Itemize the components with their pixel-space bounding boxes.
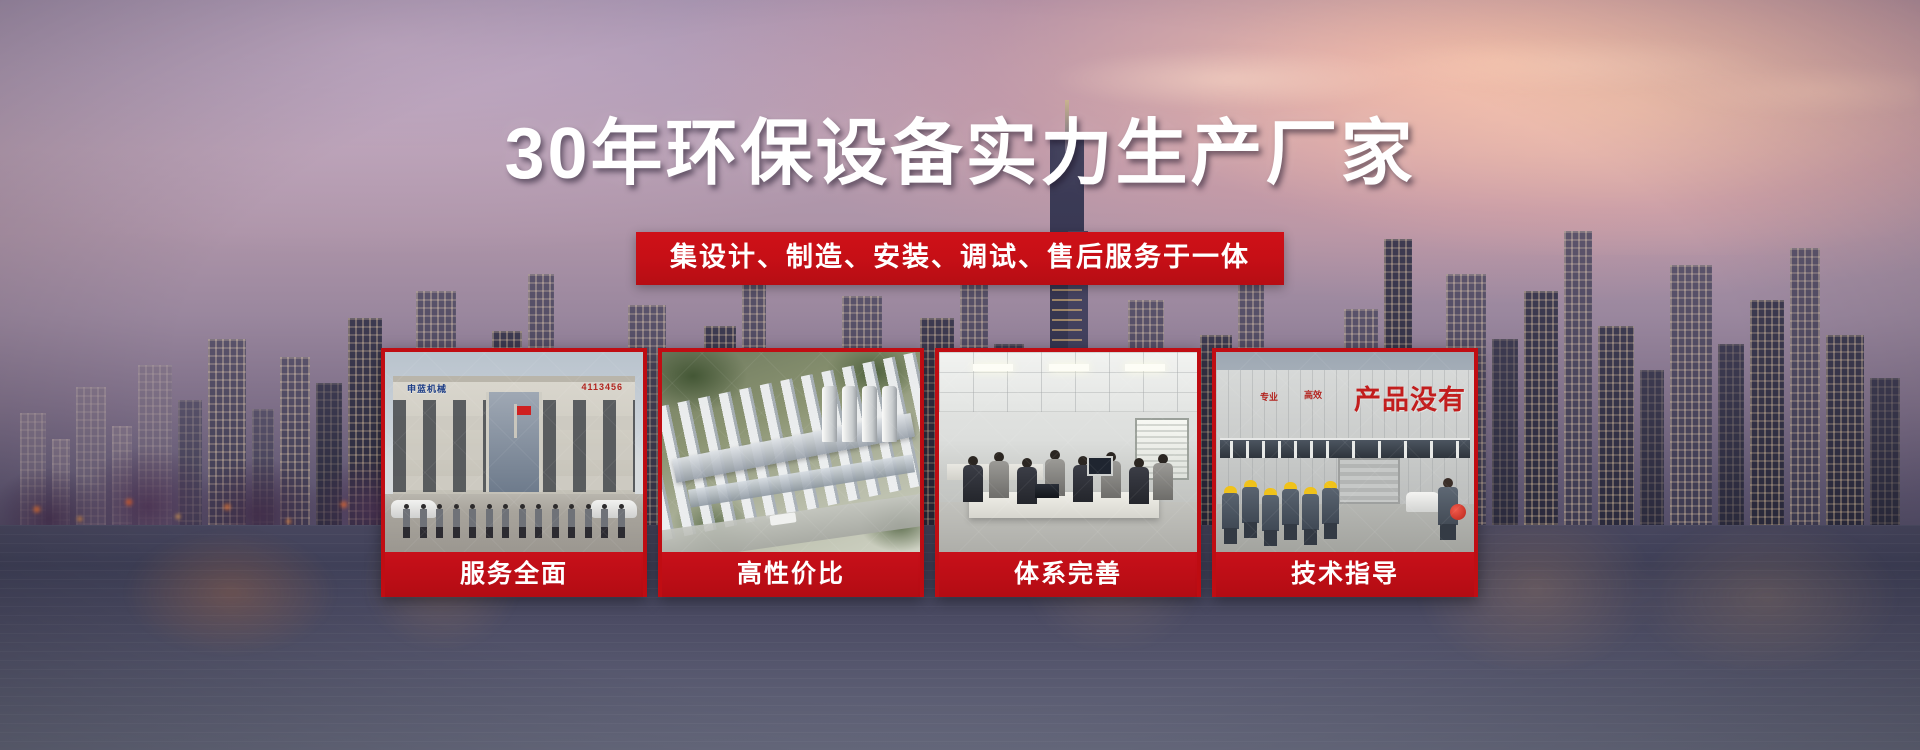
factory-slogan-small-1: 专业 — [1260, 392, 1278, 404]
feature-card-label: 体系完善 — [939, 552, 1197, 597]
feature-card-label: 高性价比 — [662, 552, 920, 597]
flag-icon — [514, 404, 517, 438]
ceiling-lamp — [1049, 364, 1089, 371]
feature-card-guidance[interactable]: 产品没有 专业 高效 — [1212, 348, 1478, 597]
silo-group — [822, 386, 897, 442]
feature-card-value[interactable]: 高性价比 — [658, 348, 924, 597]
worker-group — [1222, 480, 1346, 546]
factory-slogan-small-3: 高效 — [1304, 390, 1322, 402]
hero-banner: 30年环保设备实力生产厂家 集设计、制造、安装、调试、售后服务于一体 申蓝机械 … — [0, 0, 1920, 750]
feature-card-row: 申蓝机械 4113456 服务全面 — [381, 348, 1478, 597]
photo-factory-workers-briefing: 产品没有 专业 高效 — [1216, 352, 1474, 552]
feature-card-label: 服务全面 — [385, 552, 643, 597]
red-helmet-icon — [1450, 504, 1466, 520]
laptop — [1035, 484, 1059, 498]
photo-company-office-building: 申蓝机械 4113456 — [385, 352, 643, 552]
meeting-attendees — [963, 448, 1173, 506]
subtitle-bar-wrapper: 集设计、制造、安装、调试、售后服务于一体 — [0, 232, 1920, 285]
photo-aerial-industrial-plant — [662, 352, 920, 552]
photo-office-team-meeting — [939, 352, 1197, 552]
monitor — [1087, 456, 1113, 476]
building-sign-text: 申蓝机械 — [407, 382, 447, 395]
factory-slogan-large: 产品没有 — [1354, 378, 1466, 417]
feature-card-service[interactable]: 申蓝机械 4113456 服务全面 — [381, 348, 647, 597]
feature-card-label: 技术指导 — [1216, 552, 1474, 597]
factory-window-strip — [1220, 438, 1470, 458]
factory-door — [1338, 458, 1400, 504]
van — [1406, 492, 1440, 512]
staff-lineup — [403, 504, 625, 538]
ceiling-lamp — [973, 364, 1013, 371]
building-phone-text: 4113456 — [581, 382, 623, 392]
subtitle-banner: 集设计、制造、安装、调试、售后服务于一体 — [636, 232, 1284, 285]
ceiling-lamp — [1125, 364, 1165, 371]
page-title: 30年环保设备实力生产厂家 — [0, 118, 1920, 190]
feature-card-system[interactable]: 体系完善 — [935, 348, 1201, 597]
